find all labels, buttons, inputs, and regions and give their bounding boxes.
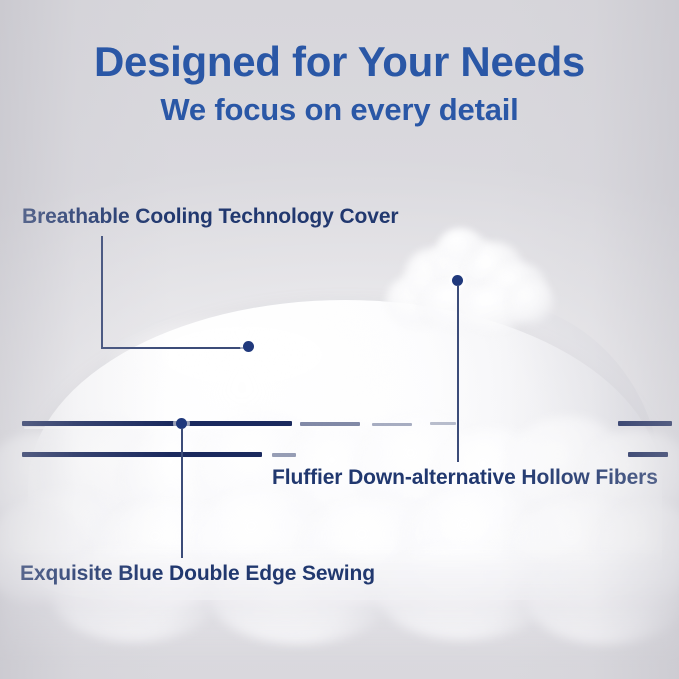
stitch-line-upper-mid-b xyxy=(372,423,412,426)
page-subtitle: We focus on every detail xyxy=(0,92,679,128)
page-title: Designed for Your Needs xyxy=(0,38,679,86)
leader-line-double-edge-sewing-vertical xyxy=(181,428,183,558)
leader-line-hollow-fibers-vertical xyxy=(457,285,459,462)
stitch-line-lower-mid-a xyxy=(272,453,296,457)
stitch-line-upper-mid-c xyxy=(430,422,456,425)
infographic-canvas: Breathable Cooling Technology Cover Fluf… xyxy=(0,0,679,679)
callout-dot-cooling-cover[interactable] xyxy=(243,341,254,352)
stitch-line-upper-mid-a xyxy=(300,422,360,426)
